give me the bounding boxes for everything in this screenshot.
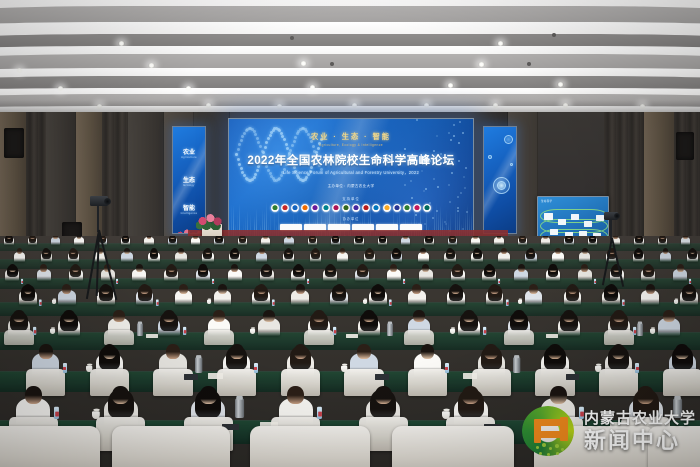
banner-right [483, 126, 517, 234]
notebook-paper [146, 334, 158, 338]
tea-cup [442, 411, 450, 419]
conference-hall-photo: 农业 Agriculture 生态 Ecology 智能 Intelligenc… [0, 0, 700, 467]
ceiling-downlight [300, 61, 307, 66]
audience-person-head [363, 310, 374, 322]
poster-header: 生命科学 [541, 199, 552, 203]
sponsor-logo-icon [311, 204, 319, 212]
ceiling-downlight [148, 63, 155, 68]
water-bottle [317, 407, 322, 419]
ceiling-downlight [185, 86, 192, 91]
audience-person-head [555, 248, 561, 254]
sponsor-logo-icon [342, 204, 350, 212]
audience-person-head [403, 236, 408, 239]
audience-person-head [543, 236, 548, 239]
audience-person-head [675, 344, 689, 359]
audience-chair [4, 330, 35, 345]
screen-tagline-cn: 农业 · 生态 · 智能 [229, 132, 473, 142]
audience-chair [663, 369, 700, 396]
audience-person-head [13, 310, 24, 322]
audience-person-head [240, 236, 245, 239]
banner-left-word-2: 生态 Ecology [173, 175, 205, 187]
ceiling-downlight [309, 85, 316, 90]
water-bottle [63, 363, 67, 373]
water-bottle [622, 300, 625, 307]
screen-title-cn: 2022年全国农林院校生命科学高峰论坛 [229, 152, 473, 168]
sponsor-logo-icon [281, 204, 289, 212]
wall-speaker [4, 128, 24, 158]
poster-chip [544, 213, 553, 220]
audience-person-head [9, 264, 16, 272]
audience-person-head [463, 310, 474, 322]
audience-person-head [528, 248, 534, 254]
audience-person-head [113, 310, 124, 322]
audience-person-head [296, 284, 305, 294]
audience-person-head [39, 344, 53, 359]
audience-chair [599, 369, 638, 396]
tablet-device [566, 374, 580, 379]
banner-circle-graphic [510, 163, 513, 166]
audience-person-head [581, 264, 588, 272]
audience-person-head [310, 236, 315, 239]
audience-person-head [168, 264, 175, 272]
audience-person-head [613, 236, 618, 239]
audience-person-head [218, 284, 227, 294]
sponsor-logo-icon [413, 204, 421, 212]
banner-left-word-1-en: Agriculture [173, 156, 205, 159]
audience-person-head [62, 284, 71, 294]
audience-person-head [166, 344, 180, 359]
notebook-paper [208, 373, 223, 378]
audience-chair [504, 330, 535, 345]
audience-person-head [151, 248, 157, 254]
audience-person-head [393, 248, 399, 254]
sponsor-logo-icon [403, 204, 411, 212]
tea-cup [450, 329, 455, 334]
audience-person-head [380, 236, 385, 239]
sponsor-logo-icon [332, 204, 340, 212]
audience-person-head [287, 386, 304, 404]
audience-person-head [294, 344, 308, 359]
audience-chair [304, 330, 335, 345]
water-bottle [633, 327, 636, 335]
audience-person-head [548, 344, 562, 359]
water-bottle [156, 300, 159, 307]
audience-person-head [450, 236, 455, 239]
audience-person-head [518, 264, 525, 272]
audience-person-head [112, 386, 129, 404]
banner-circle-graphic [488, 155, 492, 159]
audience-person-head [421, 344, 435, 359]
banner-left-word-1: 农业 Agriculture [173, 147, 205, 159]
audience-person-head [333, 236, 338, 239]
tablet-device [184, 374, 198, 379]
water-bottle [594, 279, 596, 284]
tea-cup [250, 329, 255, 334]
audience-person-head [263, 236, 268, 239]
screen-host-line: 主办单位：内蒙古农业大学 [229, 184, 473, 189]
main-led-screen: 农业 · 生态 · 智能 Agriculture, Ecology & Inte… [228, 118, 474, 242]
tea-cup [52, 300, 56, 304]
audience-person-head [486, 264, 493, 272]
audience-person-head [327, 264, 334, 272]
audience-person-head [462, 386, 479, 404]
water-bottle [33, 327, 36, 335]
screen-tagline-en: Agriculture, Ecology & Intelligence [229, 143, 473, 147]
sponsor-logo-icon [301, 204, 309, 212]
audience-person-head [473, 236, 478, 239]
water-bottle [39, 300, 42, 307]
audience-person-head [451, 284, 460, 294]
audience-person-head [420, 248, 426, 254]
audience-person-head [259, 248, 265, 254]
sponsor-logo-row [229, 204, 473, 212]
university-logo-icon [520, 403, 578, 459]
poster-chip [584, 221, 592, 227]
audience-person-head [613, 310, 624, 322]
ceiling-downlight [478, 62, 485, 67]
water-bottle [254, 363, 258, 373]
audience-person-head [520, 236, 525, 239]
water-bottle [183, 327, 186, 335]
sponsor-logo-icon [393, 204, 401, 212]
poster-chip [571, 214, 579, 220]
audience-person-head [645, 264, 652, 272]
thermos-flask [387, 323, 393, 336]
sponsor-logo-icon [372, 204, 380, 212]
foreground-chair [250, 426, 370, 467]
audience-person-head [677, 264, 684, 272]
audience-chair [204, 330, 235, 345]
ceiling-sensor-icon [527, 62, 531, 66]
poster-chip [596, 215, 604, 221]
notebook-paper [346, 334, 358, 338]
water-bottle [54, 407, 59, 419]
audience-person-head [490, 284, 499, 294]
logo-dots [534, 441, 570, 457]
ceiling-downlight [447, 83, 454, 88]
banner-circle-graphic [497, 181, 506, 190]
audience-person-head [230, 344, 244, 359]
audience-person-head [447, 248, 453, 254]
audience-person-head [101, 284, 110, 294]
audience-person-head [136, 264, 143, 272]
audience-person-head [367, 248, 373, 254]
notebook-paper [463, 373, 478, 378]
flower-arrangement-podium [196, 212, 226, 230]
audience-person-head [25, 386, 42, 404]
audience-person-head [43, 248, 49, 254]
water-bottle [445, 363, 449, 373]
sponsor-logo-icon [423, 204, 431, 212]
camera-lens-icon [614, 213, 620, 219]
audience-person-head [205, 248, 211, 254]
audience-person-head [178, 248, 184, 254]
tripod-column [97, 206, 99, 232]
water-bottle [333, 327, 336, 335]
audience-person-head [454, 264, 461, 272]
water-bottle [403, 279, 405, 284]
audience-person-head [72, 264, 79, 272]
audience-person-head [263, 310, 274, 322]
audience-person-head [374, 284, 383, 294]
water-bottle [272, 300, 275, 307]
audience-person-head [375, 386, 392, 404]
audience-person-head [357, 344, 371, 359]
watermark: 内蒙古农业大学 新闻中心 [520, 400, 696, 462]
poster-chip [558, 219, 566, 225]
water-bottle [389, 300, 392, 307]
audience-person-head [53, 236, 58, 239]
audience-person-head [179, 284, 188, 294]
audience-chair [104, 330, 135, 345]
notebook-paper [546, 334, 558, 338]
tablet-device [375, 374, 389, 379]
screen-title-en: Life Science Forum of Agricultural and F… [229, 170, 473, 176]
tea-cup [92, 411, 100, 419]
watermark-dept-name: 新闻中心 [584, 430, 696, 452]
audience-chair [153, 369, 192, 396]
wall-speaker [676, 132, 694, 160]
audience-person-head [257, 284, 266, 294]
audience-person-head [568, 284, 577, 294]
audience-person-head [313, 310, 324, 322]
foreground-chair [0, 426, 100, 467]
audience-person-head [213, 310, 224, 322]
audience-person-head [563, 310, 574, 322]
audience-person-head [660, 236, 665, 239]
audience-person-head [359, 264, 366, 272]
audience-person-head [529, 284, 538, 294]
audience-person-head [140, 284, 149, 294]
audience-person-head [335, 284, 344, 294]
audience-chair [217, 369, 256, 396]
water-bottle [307, 279, 309, 284]
water-bottle [21, 279, 23, 284]
audience-chair [404, 330, 435, 345]
audience-person-head [390, 264, 397, 272]
audience-person-head [295, 264, 302, 272]
audience-person-head [200, 386, 217, 404]
watermark-text: 内蒙古农业大学 新闻中心 [584, 411, 696, 452]
thermos-flask [235, 398, 244, 418]
tea-cup [650, 329, 655, 334]
foreground-chair [112, 426, 230, 467]
water-bottle [483, 327, 486, 335]
screen-content: 农业 · 生态 · 智能 Agriculture, Ecology & Inte… [229, 119, 473, 241]
watermark-org-name: 内蒙古农业大学 [584, 411, 696, 426]
ceiling-downlight [557, 82, 564, 87]
audience-person-head [513, 310, 524, 322]
audience-chair [408, 369, 447, 396]
audience-person-head [549, 264, 556, 272]
water-bottle [689, 279, 691, 284]
audience-person-head [199, 264, 206, 272]
audience-chair [604, 330, 635, 345]
audience-person-head [40, 264, 47, 272]
audience-person-head [582, 248, 588, 254]
screen-section-support: 支持单位 [229, 196, 473, 201]
ceiling-downlight [497, 41, 504, 46]
sponsor-logo-icon [322, 204, 330, 212]
audience-person-head [607, 284, 616, 294]
audience-person-head [484, 344, 498, 359]
sponsor-logo-icon [291, 204, 299, 212]
thermos-flask [513, 357, 520, 373]
audience-person-head [193, 236, 198, 239]
audience-person-head [232, 248, 238, 254]
audience-person-head [646, 284, 655, 294]
water-bottle [498, 279, 500, 284]
banner-circle-graphic [504, 135, 513, 144]
screen-section-sponsor: 协办单位 [229, 216, 473, 221]
audience-person-head [263, 264, 270, 272]
audience-person-head [413, 310, 424, 322]
audience-person-head [124, 248, 130, 254]
sponsor-logo-icon [271, 204, 279, 212]
audience-person-head [422, 264, 429, 272]
thermos-flask [637, 323, 643, 336]
audience-person-head [30, 236, 35, 239]
logo-n-mark [534, 417, 568, 444]
audience-person-head [412, 284, 421, 294]
audience-person-head [24, 284, 33, 294]
ceiling-sensor-icon [290, 36, 294, 40]
audience-person-head [231, 264, 238, 272]
audience-person-head [123, 236, 128, 239]
audience-person-head [163, 310, 174, 322]
audience-person-head [170, 236, 175, 239]
audience-person-head [663, 310, 674, 322]
banner-left-word-2-en: Ecology [173, 184, 205, 187]
thermos-flask [195, 357, 202, 373]
water-bottle [506, 300, 509, 307]
audience-person-head [685, 284, 694, 294]
sponsor-logo-icon [352, 204, 360, 212]
water-bottle [116, 279, 118, 284]
sponsor-logo-icon [383, 204, 391, 212]
ceiling-downlight [16, 68, 23, 73]
foreground-chair [392, 426, 514, 467]
poster-chip [550, 229, 558, 235]
ceiling-downlight [118, 41, 125, 46]
audience-person-head [474, 248, 480, 254]
audience-person-head [590, 236, 595, 239]
ceiling-sensor-icon [330, 62, 334, 66]
tea-cup [50, 329, 55, 334]
audience-person-head [103, 344, 117, 359]
tea-cup [341, 366, 347, 372]
water-bottle [635, 363, 639, 373]
audience-person-head [683, 236, 688, 239]
audience-person-head [17, 248, 23, 254]
audience-person-head [612, 344, 626, 359]
audience-person-head [70, 248, 76, 254]
ceiling-downlight [57, 86, 64, 91]
audience-person-head [63, 310, 74, 322]
sponsor-logo-icon [362, 204, 370, 212]
thermos-flask [137, 323, 143, 336]
water-bottle [212, 279, 214, 284]
ceiling-sensor-icon [552, 33, 556, 37]
audience-person-head [501, 248, 507, 254]
camera-lens-icon [104, 198, 111, 205]
tea-cup [86, 366, 92, 372]
